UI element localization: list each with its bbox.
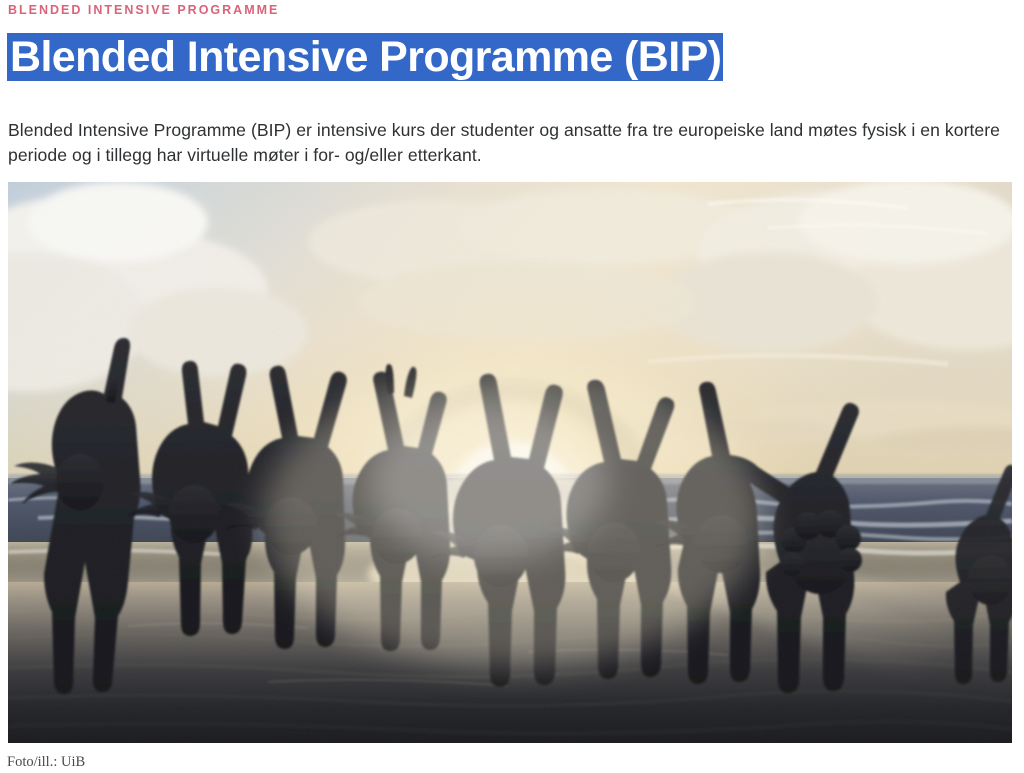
- article-kicker: BLENDED INTENSIVE PROGRAMME: [8, 1, 279, 19]
- article-hero-image: [8, 182, 1012, 743]
- page-title: Blended Intensive Programme (BIP): [7, 26, 723, 88]
- page-title-text: Blended Intensive Programme (BIP): [7, 33, 723, 81]
- image-caption: Foto/ill.: UiB: [7, 753, 85, 771]
- article-lead-paragraph: Blended Intensive Programme (BIP) er int…: [8, 118, 1008, 168]
- article-page: BLENDED INTENSIVE PROGRAMME Blended Inte…: [0, 0, 1024, 773]
- beach-jumping-photo-icon: [8, 182, 1012, 743]
